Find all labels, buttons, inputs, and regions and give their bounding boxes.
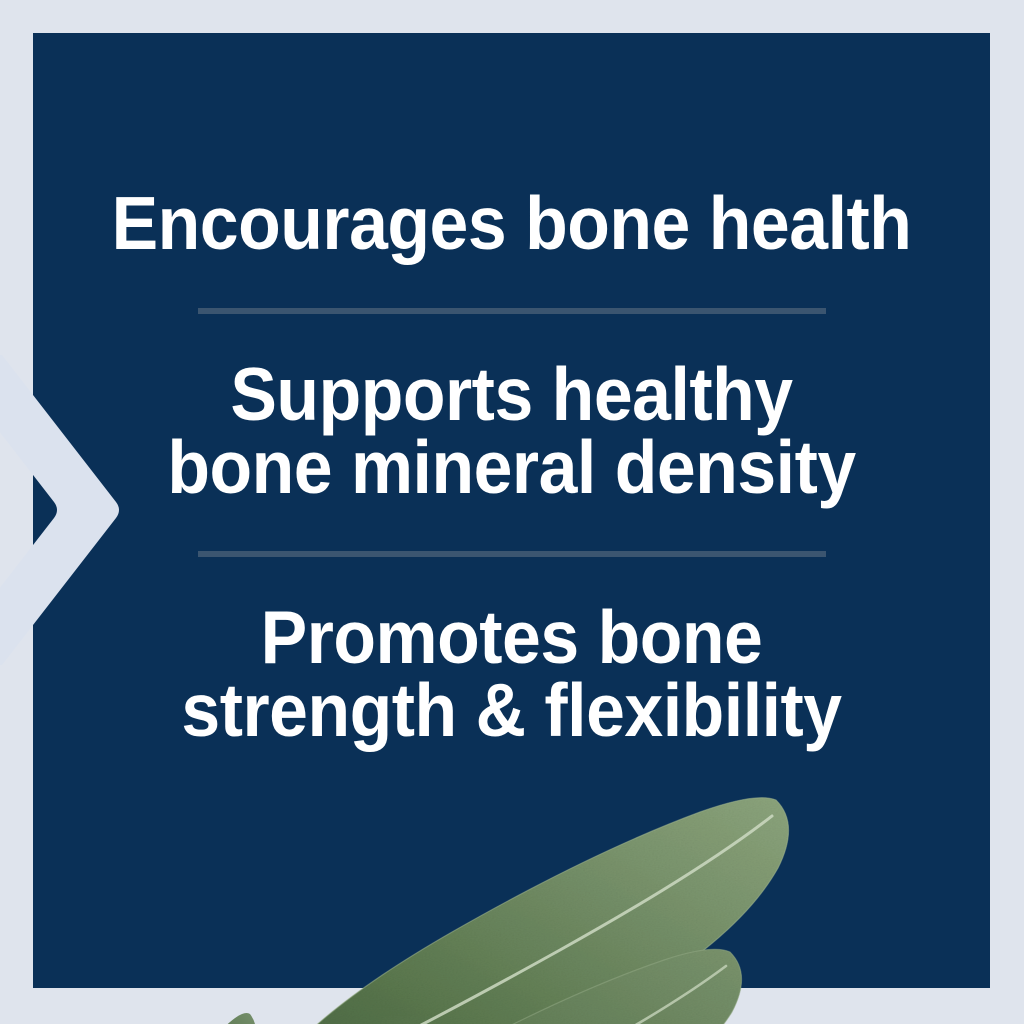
spacer: [33, 503, 990, 551]
benefit-callout-graphic: Encourages bone health Supports healthy …: [0, 0, 1024, 1024]
benefit-mineral-density: Supports healthy bone mineral density: [66, 358, 956, 504]
spacer: [33, 260, 990, 308]
leaf-tip-small: [175, 1013, 256, 1024]
benefit-list: Encourages bone health Supports healthy …: [33, 33, 990, 747]
benefit-strength-flexibility: Promotes bone strength & flexibility: [66, 601, 956, 747]
benefit-bone-health: Encourages bone health: [66, 187, 956, 260]
panel-inner: Encourages bone health Supports healthy …: [33, 33, 990, 988]
navy-panel: Encourages bone health Supports healthy …: [33, 33, 990, 988]
